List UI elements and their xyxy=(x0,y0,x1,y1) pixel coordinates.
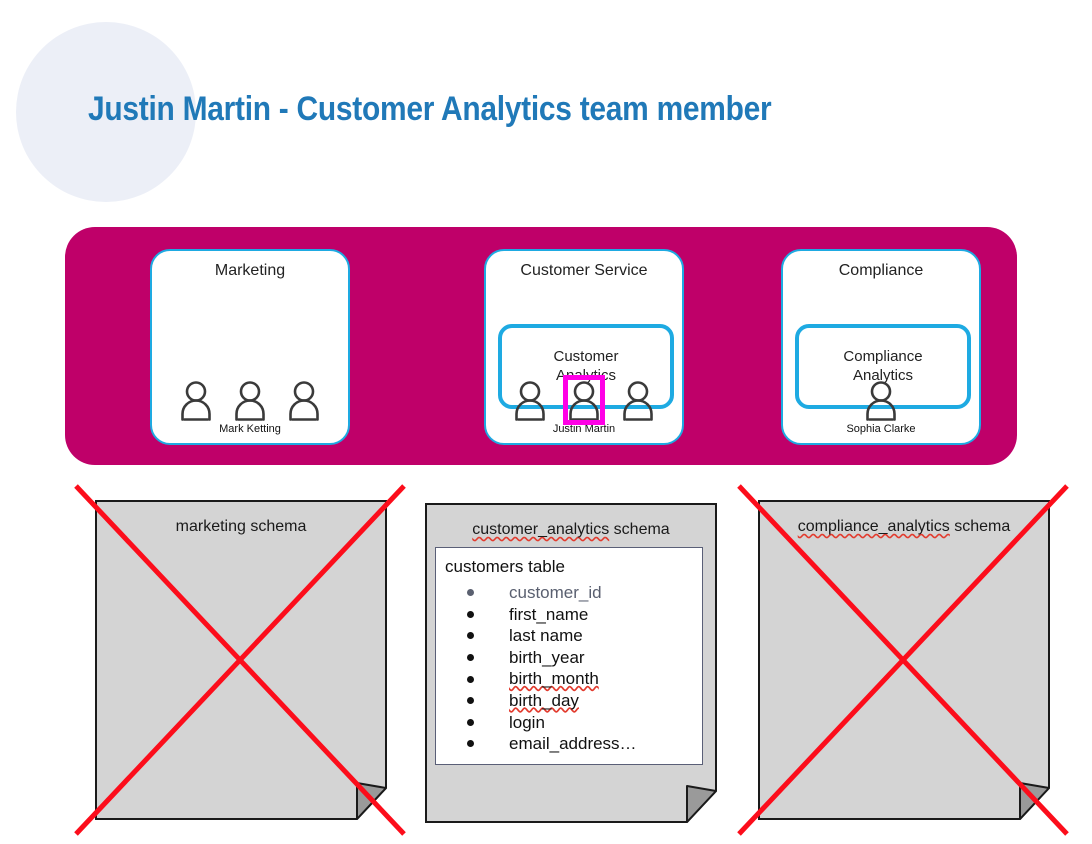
bullet-icon xyxy=(467,676,474,683)
document-title-schema-name: compliance_analytics xyxy=(798,518,950,535)
bullet-icon xyxy=(467,611,474,618)
dept-card-marketing[interactable]: Marketing xyxy=(150,249,350,445)
document-title-suffix: schema xyxy=(246,518,306,535)
dept-title: Marketing xyxy=(152,262,348,280)
field-list: customer_id first_name last name birth_y… xyxy=(445,582,696,755)
bullet-icon xyxy=(467,654,474,661)
list-item: customer_id xyxy=(445,582,696,604)
document-title-suffix: schema xyxy=(609,521,669,538)
list-item: last name xyxy=(445,625,696,647)
person-icon[interactable] xyxy=(177,379,215,425)
document-title-suffix: schema xyxy=(950,518,1010,535)
field-name: birth_month xyxy=(509,669,599,688)
bullet-icon xyxy=(467,740,474,747)
document-title-schema-name: marketing xyxy=(176,518,246,535)
field-name: first_name xyxy=(509,605,588,624)
document-title: marketing schema xyxy=(95,518,387,536)
people-row xyxy=(486,379,682,431)
document-title-schema-name: customer_analytics xyxy=(472,521,609,538)
dept-title: Customer Service xyxy=(486,262,682,280)
document-shape xyxy=(758,500,1050,820)
bullet-icon xyxy=(467,632,474,639)
field-name: birth_year xyxy=(509,648,585,667)
document-body: customers table customer_id first_name l… xyxy=(435,547,703,765)
field-name: birth_day xyxy=(509,691,579,710)
analytics-label-line1: Compliance xyxy=(843,348,922,365)
document-title: compliance_analytics schema xyxy=(758,518,1050,536)
list-item: login xyxy=(445,712,696,734)
schema-document-marketing[interactable]: marketing schema xyxy=(95,500,387,820)
bullet-icon xyxy=(467,697,474,704)
person-icon[interactable] xyxy=(285,379,323,425)
list-item: first_name xyxy=(445,604,696,626)
analytics-label-line1: Customer xyxy=(553,348,618,365)
list-item: email_address… xyxy=(445,733,696,755)
person-icon[interactable] xyxy=(619,379,657,425)
dept-title: Compliance xyxy=(783,262,979,280)
document-title: customer_analytics schema xyxy=(425,521,717,539)
person-icon-highlighted-justin-martin[interactable] xyxy=(565,379,603,425)
list-item: birth_month xyxy=(445,668,696,690)
field-name: login xyxy=(509,713,545,732)
list-item: birth_year xyxy=(445,647,696,669)
people-row xyxy=(783,379,979,431)
field-name: email_address… xyxy=(509,734,637,753)
list-item: birth_day xyxy=(445,690,696,712)
person-icon[interactable] xyxy=(231,379,269,425)
field-name: last name xyxy=(509,626,583,645)
table-name: customers table xyxy=(445,557,565,577)
bullet-icon xyxy=(467,719,474,726)
people-row xyxy=(152,379,348,431)
schema-document-compliance-analytics[interactable]: compliance_analytics schema xyxy=(758,500,1050,820)
field-name: customer_id xyxy=(509,583,602,602)
dept-card-compliance[interactable]: Compliance Compliance Analytics Sophia C… xyxy=(781,249,981,445)
slide-canvas: Justin Martin - Customer Analytics team … xyxy=(0,0,1092,844)
page-title: Justin Martin - Customer Analytics team … xyxy=(88,90,771,129)
bullet-icon xyxy=(467,589,474,596)
dept-card-customer-service[interactable]: Customer Service Customer Analytics xyxy=(484,249,684,445)
person-icon[interactable] xyxy=(862,379,900,425)
person-icon[interactable] xyxy=(511,379,549,425)
schema-document-customer-analytics[interactable]: customer_analytics schema customers tabl… xyxy=(425,503,717,823)
document-shape xyxy=(95,500,387,820)
